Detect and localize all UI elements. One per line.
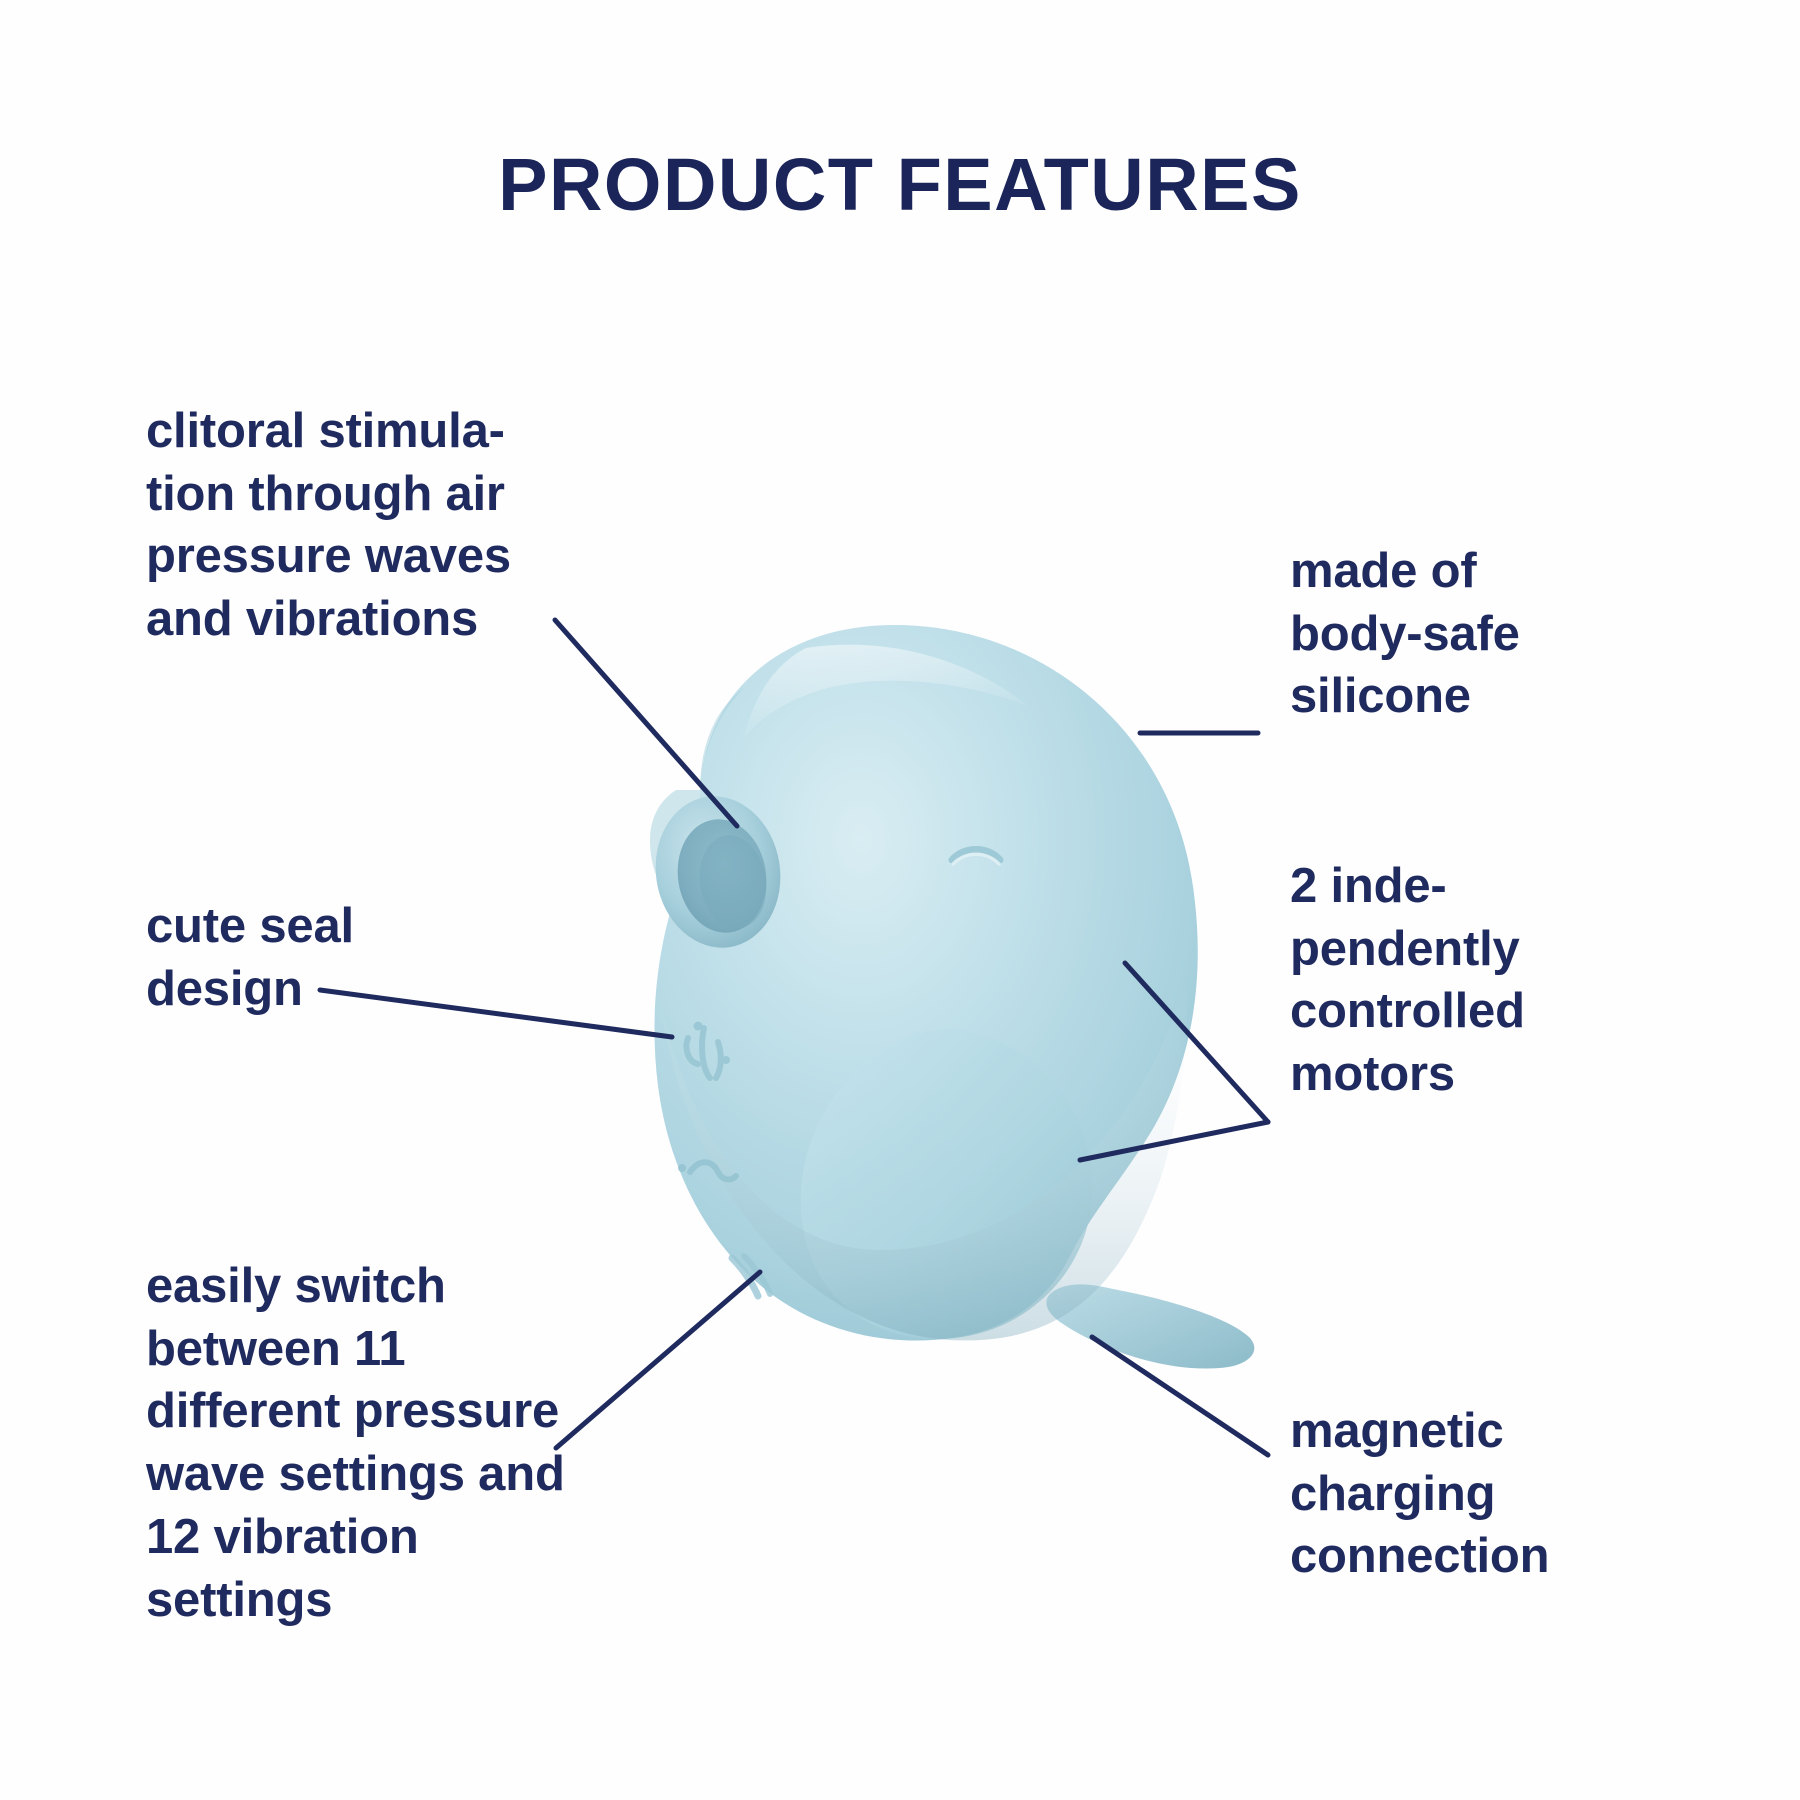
callout-body-safe-silicone: made of body-safe silicone xyxy=(1290,540,1610,728)
nozzle-collar xyxy=(650,688,744,902)
callout-clitoral-stimulation: clitoral stimula- tion through air press… xyxy=(146,400,566,651)
seal-eye-highlight xyxy=(953,854,999,864)
callout-magnetic-charging: magnetic charging connection xyxy=(1290,1400,1620,1588)
leader-line-motors-lower xyxy=(1080,1122,1268,1160)
seal-flipper xyxy=(1046,1284,1254,1368)
callout-cute-seal-design: cute seal design xyxy=(146,895,526,1020)
product-body-group xyxy=(645,625,1254,1369)
page-title: PRODUCT FEATURES xyxy=(0,148,1800,222)
callout-independent-motors: 2 inde- pendently controlled motors xyxy=(1290,855,1620,1106)
leader-line-air-pressure xyxy=(555,620,737,826)
air-pulse-nozzle-depth xyxy=(693,830,773,933)
air-pulse-nozzle-inner xyxy=(670,813,775,939)
seal-head-body xyxy=(654,625,1197,1341)
power-button-icon xyxy=(732,1256,770,1296)
body-shading xyxy=(660,980,1187,1340)
callout-pressure-and-vibration-settings: easily switch between 11 different press… xyxy=(146,1255,616,1631)
leader-line-motors-upper xyxy=(1125,963,1268,1122)
leader-line-magnetic xyxy=(1092,1337,1268,1455)
wave-icon xyxy=(678,1162,736,1179)
infographic-canvas: PRODUCT FEATURES xyxy=(0,0,1800,1800)
body-highlight xyxy=(744,645,1028,738)
seal-eye-icon xyxy=(952,850,1000,861)
seal-belly xyxy=(801,1029,1093,1339)
air-pulse-nozzle-outer xyxy=(645,787,791,957)
satisfyer-logo-icon xyxy=(686,1022,730,1079)
